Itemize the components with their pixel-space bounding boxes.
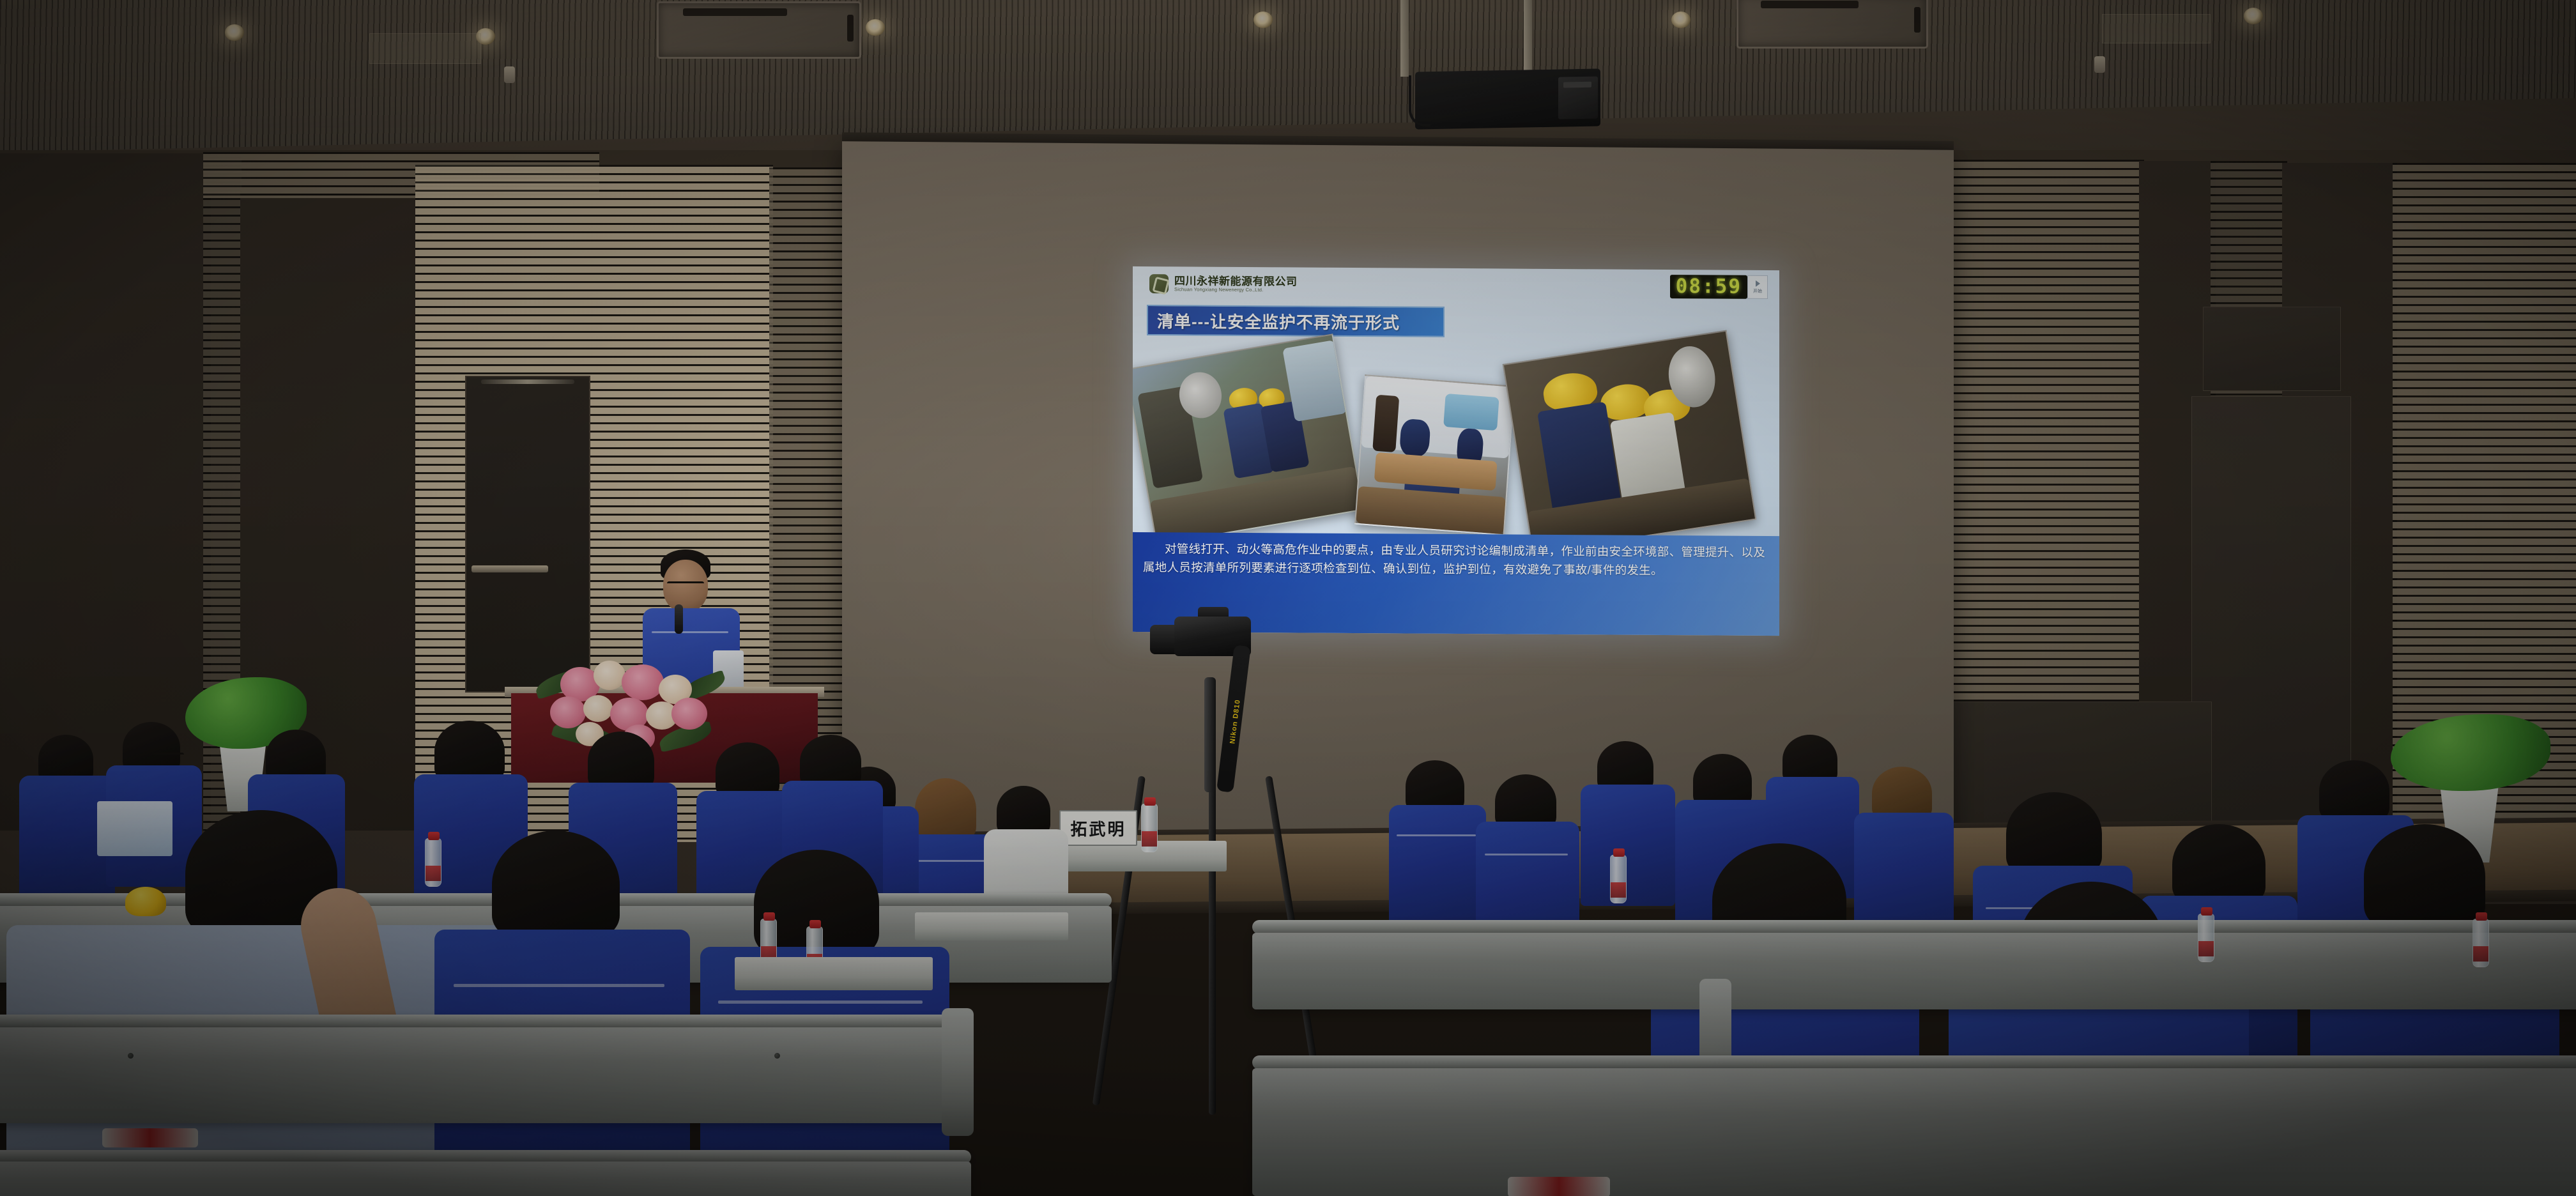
audience-hair (997, 786, 1050, 836)
presenter-glasses (667, 581, 704, 586)
laptop-screen[interactable] (97, 801, 172, 856)
tripod-leg (1209, 776, 1216, 1115)
water-bottle (1141, 804, 1158, 852)
seat-back-rail (1252, 920, 2576, 934)
stage-door-left[interactable] (465, 376, 590, 693)
company-logo-row: 四川永祥新能源有限公司 Sichuan Yongxiang Newenergy … (1149, 274, 1298, 294)
audience-hair (2319, 760, 2389, 822)
ac-vent (1736, 0, 1928, 49)
slide-title-banner: 清单---让安全监护不再流于形式 (1147, 305, 1445, 337)
ceiling-tile (369, 33, 481, 64)
uniform-trim (908, 860, 988, 862)
smoke-detector (504, 66, 515, 83)
audience-hair (2172, 824, 2265, 905)
slide-title: 清单---让安全监护不再流于形式 (1148, 309, 1400, 333)
uniform-trim (1397, 834, 1476, 836)
water-bottle (2198, 914, 2214, 962)
company-logo-icon (1149, 274, 1169, 293)
timer-start-button[interactable]: 开始 (1747, 275, 1768, 299)
snack-wrapper (102, 1128, 198, 1147)
ceiling-downlight (866, 19, 885, 36)
microphone[interactable] (675, 604, 683, 634)
ceiling-downlight (225, 24, 244, 41)
audience-uniform (1581, 785, 1675, 906)
audience-glasses (153, 753, 184, 758)
writing-desk (735, 957, 933, 990)
audience-hair (588, 732, 654, 790)
wall-panel-dark-left (0, 153, 211, 831)
company-name-cn: 四川永祥新能源有限公司 (1174, 275, 1298, 287)
ac-vent (657, 1, 861, 59)
seat-bolt (128, 1053, 134, 1059)
projector-vent (1558, 77, 1598, 119)
seat-armrest[interactable] (942, 1008, 974, 1136)
ceiling-downlight (1671, 11, 1690, 28)
audience-uniform (1389, 805, 1486, 933)
name-placard: 拓武明 (1059, 810, 1137, 846)
slide-body-text: 对管线打开、动火等高危作业中的要点，由专业人员研究讨论编制成清单，作业前由安全环… (1143, 540, 1769, 580)
uniform-trim (718, 1000, 923, 1004)
slide-photo-pipeline (1133, 333, 1364, 545)
flower-blossom (550, 696, 586, 728)
water-bottle (425, 838, 441, 887)
writing-desk (915, 912, 1068, 940)
door-handle[interactable] (471, 565, 548, 572)
camera-strap-text: Nikon D810 (1229, 708, 1241, 744)
ceiling-tile (2102, 14, 2211, 43)
presentation-slide: 四川永祥新能源有限公司 Sichuan Yongxiang Newenergy … (1133, 266, 1779, 636)
seat-back-panel (1252, 933, 2576, 1009)
projector-cable (1409, 75, 1430, 126)
ceiling-projector (1415, 68, 1600, 129)
placard-name: 拓武明 (1070, 816, 1126, 840)
tripod-center-column (1204, 677, 1216, 792)
slide-header: 四川永祥新能源有限公司 Sichuan Yongxiang Newenergy … (1133, 266, 1779, 306)
seat-back-panel (0, 1027, 958, 1123)
seat-back-rail (0, 1015, 958, 1029)
projector-pipe (1524, 0, 1532, 77)
seat-back-panel (1252, 1068, 2576, 1196)
flower-blossom (594, 661, 625, 690)
seat-back-rail (1252, 1055, 2576, 1069)
seat-bolt (774, 1053, 780, 1059)
play-icon (1756, 280, 1760, 286)
flower-blossom (583, 695, 613, 722)
ceiling-downlight (2244, 8, 2263, 24)
smoke-detector (2094, 56, 2105, 73)
seat-back-panel (0, 1161, 971, 1196)
uniform-trim (1485, 854, 1568, 855)
flower-blossom (671, 698, 707, 730)
attendee-hair (492, 831, 620, 939)
slide-photo-inspection (1503, 330, 1757, 554)
yellow-hard-hat (125, 887, 166, 916)
ceiling-downlight (1253, 11, 1273, 28)
countdown-timer-widget[interactable]: 08:59 开始 (1670, 275, 1768, 299)
uniform-trim (454, 984, 664, 987)
auditorium-scene: 四川永祥新能源有限公司 Sichuan Yongxiang Newenergy … (0, 0, 2576, 1196)
audience-hair (915, 778, 976, 841)
acoustic-panel-right-top (2203, 307, 2341, 391)
audience-hair (716, 742, 779, 799)
uniform-trim (652, 631, 728, 633)
slide-photo-meeting (1354, 374, 1515, 535)
attendee-hair (2364, 824, 2485, 929)
company-name-en: Sichuan Yongxiang Newenergy Co.,Ltd. (1174, 287, 1298, 293)
flower-blossom (622, 664, 664, 700)
timer-display: 08:59 (1670, 275, 1747, 299)
water-bottle (1610, 855, 1627, 903)
door-top-highlight (481, 379, 574, 384)
timer-start-label: 开始 (1753, 287, 1762, 294)
water-bottle (2472, 919, 2489, 967)
projector-pipe (1400, 0, 1409, 77)
snack-wrapper (1508, 1177, 1610, 1196)
audience-hair (2006, 792, 2102, 875)
audience-hair (434, 721, 505, 782)
